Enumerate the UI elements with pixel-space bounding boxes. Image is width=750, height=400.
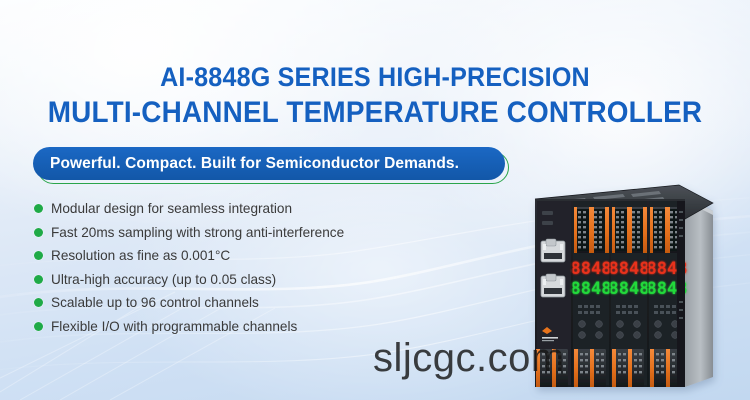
feature-list: Modular design for seamless integration … [34,197,504,338]
feature-label: Ultra-high accuracy (up to 0.05 class) [51,272,276,287]
terminal-block-top [612,207,647,253]
feature-item: Resolution as fine as 0.001°C [34,244,504,268]
terminal-block-top [574,207,609,253]
terminal-block-bottom [612,349,644,387]
display-green: 8848 [571,279,612,299]
product-banner: AI-8848G SERIES HIGH-PRECISION MULTI-CHA… [0,0,750,400]
display-red: 8848 [571,259,612,279]
feature-item: Scalable up to 96 control channels [34,291,504,315]
bullet-dot-icon [34,275,43,284]
feature-label: Resolution as fine as 0.001°C [51,248,230,263]
site-watermark: sljcgc.com [373,336,565,381]
channel-module: 8848 8848 [571,201,612,387]
feature-label: Fast 20ms sampling with strong anti-inte… [51,225,344,240]
bullet-dot-icon [34,298,43,307]
bullet-dot-icon [34,204,43,213]
title-line-1: AI-8848G SERIES HIGH-PRECISION [26,64,724,91]
ethernet-port-in [541,239,565,262]
channel-module: 8848 8848 [609,201,650,387]
feature-item: Modular design for seamless integration [34,197,504,221]
terminal-block-bottom [574,349,606,387]
feature-label: Modular design for seamless integration [51,201,292,216]
feature-item: Flexible I/O with programmable channels [34,315,504,339]
ethernet-port-out [541,274,565,297]
feature-item: Ultra-high accuracy (up to 0.05 class) [34,268,504,292]
bullet-dot-icon [34,228,43,237]
feature-item: Fast 20ms sampling with strong anti-inte… [34,221,504,245]
feature-label: Flexible I/O with programmable channels [51,319,297,334]
bullet-dot-icon [34,322,43,331]
tagline-badge: Powerful. Compact. Built for Semiconduct… [33,147,505,180]
page-title: AI-8848G SERIES HIGH-PRECISION MULTI-CHA… [0,64,750,128]
display-green: 8848 [609,279,650,299]
device-side-panel [685,197,713,387]
feature-label: Scalable up to 96 control channels [51,295,259,310]
display-red: 8848 [609,259,650,279]
tagline-badge-label: Powerful. Compact. Built for Semiconduct… [33,147,505,180]
title-line-2: MULTI-CHANNEL TEMPERATURE CONTROLLER [26,98,724,128]
bullet-dot-icon [34,251,43,260]
